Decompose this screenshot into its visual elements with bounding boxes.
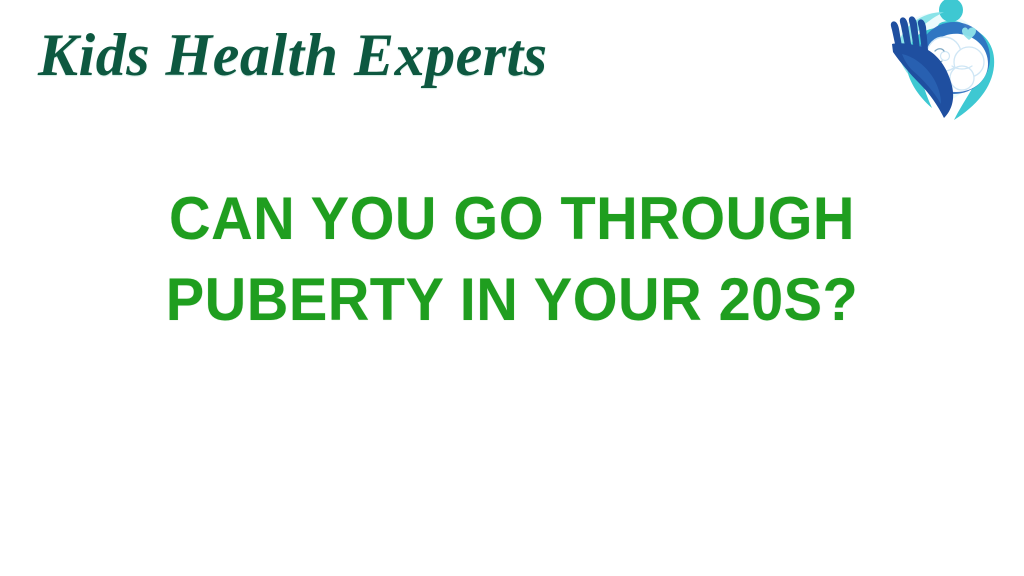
brand-wordmark: Kids Health Experts: [38, 20, 548, 90]
headline-line-1: CAN YOU GO THROUGH: [20, 178, 1003, 259]
page-title: CAN YOU GO THROUGH PUBERTY IN YOUR 20S?: [0, 178, 1024, 340]
brand-header: Kids Health Experts: [0, 0, 1024, 130]
slide-canvas: Kids Health Experts: [0, 0, 1024, 576]
headline-line-2: PUBERTY IN YOUR 20S?: [20, 259, 1003, 340]
parent-and-baby-heart-logo-icon: [872, 0, 1014, 128]
